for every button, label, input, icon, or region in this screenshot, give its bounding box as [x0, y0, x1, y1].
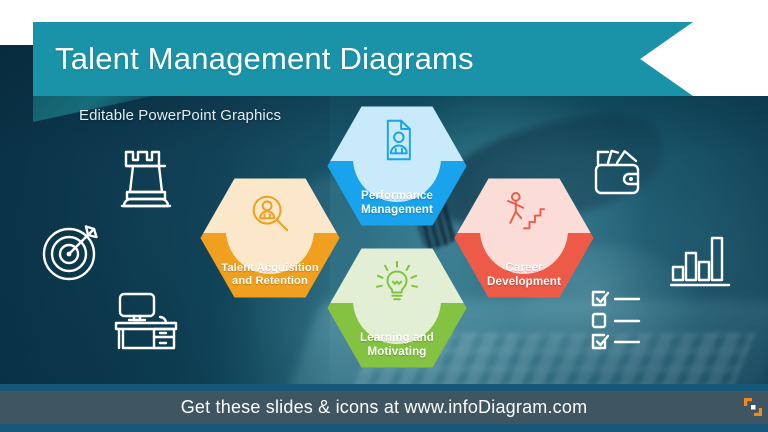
hex-label-line1: Performance	[326, 189, 468, 203]
slide-canvas: Talent Management Diagrams Editable Powe…	[0, 0, 768, 432]
title-banner: Talent Management Diagrams	[33, 22, 693, 96]
wallet-cards-icon	[592, 148, 656, 211]
checklist-icon	[590, 290, 658, 357]
person-stairs-icon	[502, 190, 546, 237]
infodiagram-logo-icon[interactable]	[742, 396, 764, 418]
subtitle: Editable PowerPoint Graphics	[79, 107, 281, 124]
footer-bottom-strip	[0, 424, 768, 432]
bar-chart-icon	[670, 232, 732, 293]
desk-computer-icon	[114, 292, 178, 355]
hex-label-line1: Career	[453, 261, 595, 275]
page-title: Talent Management Diagrams	[33, 41, 474, 77]
footer-text: Get these slides & icons at www.infoDiag…	[181, 397, 588, 418]
person-document-icon	[376, 118, 418, 167]
target-arrow-icon	[42, 222, 104, 287]
footer-bar: Get these slides & icons at www.infoDiag…	[0, 391, 768, 424]
lightbulb-icon	[374, 260, 420, 309]
footer-top-strip	[0, 384, 768, 391]
chess-rook-icon	[120, 148, 172, 215]
hex-label-line1: Learning and	[326, 331, 468, 345]
person-magnifier-icon	[247, 190, 293, 241]
